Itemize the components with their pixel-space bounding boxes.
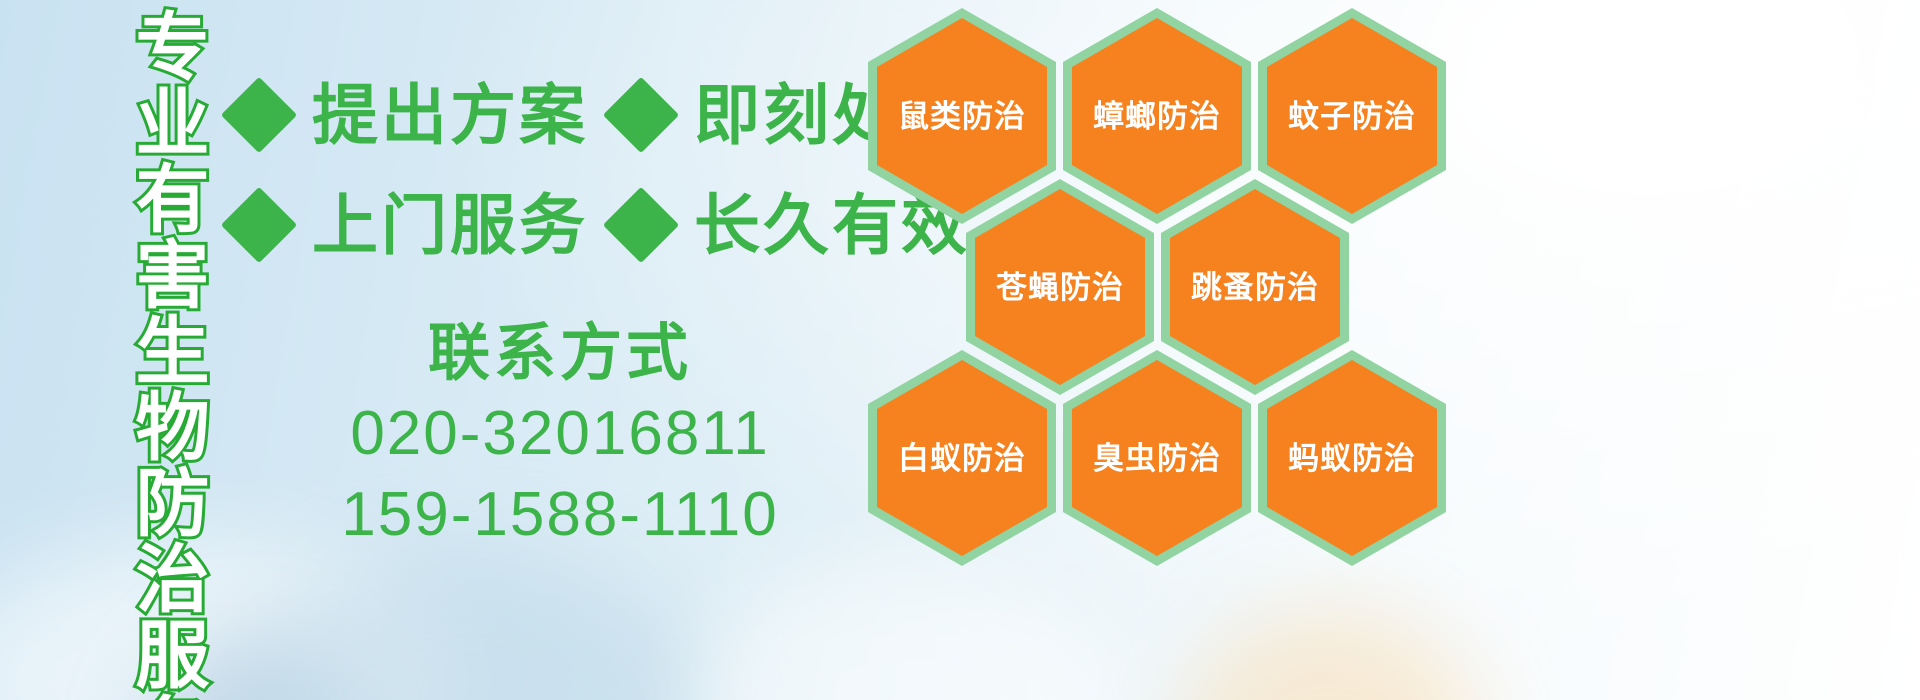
service-label: 白蚁防治 [898,443,1026,474]
feature-label-propose-plan: 提出方案 [312,82,588,148]
background-blur-blob [1420,0,1880,210]
service-label: 跳蚤防治 [1191,272,1319,303]
background-blur-blob [0,540,460,700]
diamond-bullet-icon [603,187,679,263]
background-blur-blob [700,560,1120,700]
promo-banner: 专业有害生物防治服务 提出方案 即刻处理 上门服务 长久有效 联系方式 020-… [0,0,1920,700]
contact-block: 联系方式 020-32016811 159-1588-1110 [300,315,820,556]
service-label: 蚊子防治 [1288,101,1416,132]
service-hex-ant[interactable]: 蚂蚁防治 [1258,350,1446,566]
feature-row-1: 提出方案 即刻处理 [232,82,970,148]
feature-label-door-to-door-service: 上门服务 [312,192,588,258]
vertical-headline: 专业有害生物防治服务 [108,8,204,700]
service-hex-flea[interactable]: 跳蚤防治 [1161,179,1349,395]
service-label: 鼠类防治 [898,101,1026,132]
service-hex-bedbug[interactable]: 臭虫防治 [1063,350,1251,566]
service-hex-fly[interactable]: 苍蝇防治 [966,179,1154,395]
phone-number-landline[interactable]: 020-32016811 [300,393,820,475]
service-hex-termite[interactable]: 白蚁防治 [868,350,1056,566]
service-label: 蚂蚁防治 [1288,443,1416,474]
contact-label: 联系方式 [300,315,820,393]
service-honeycomb: 鼠类防治 蟑螂防治 蚊子防治 苍蝇防治 跳蚤防治 白蚁防治 臭虫防治 蚂蚁 [862,0,1462,560]
diamond-bullet-icon [221,187,297,263]
service-label: 苍蝇防治 [996,272,1124,303]
service-hex-mosquito[interactable]: 蚊子防治 [1258,8,1446,224]
service-hex-rodent[interactable]: 鼠类防治 [868,8,1056,224]
feature-row-2: 上门服务 长久有效 [232,192,970,258]
service-label: 蟑螂防治 [1093,101,1221,132]
service-hex-cockroach[interactable]: 蟑螂防治 [1063,8,1251,224]
diamond-bullet-icon [603,77,679,153]
background-blur-blob [240,550,700,700]
service-label: 臭虫防治 [1093,443,1221,474]
phone-number-mobile[interactable]: 159-1588-1110 [300,474,820,556]
diamond-bullet-icon [221,77,297,153]
background-blur-blob [1180,610,1480,700]
